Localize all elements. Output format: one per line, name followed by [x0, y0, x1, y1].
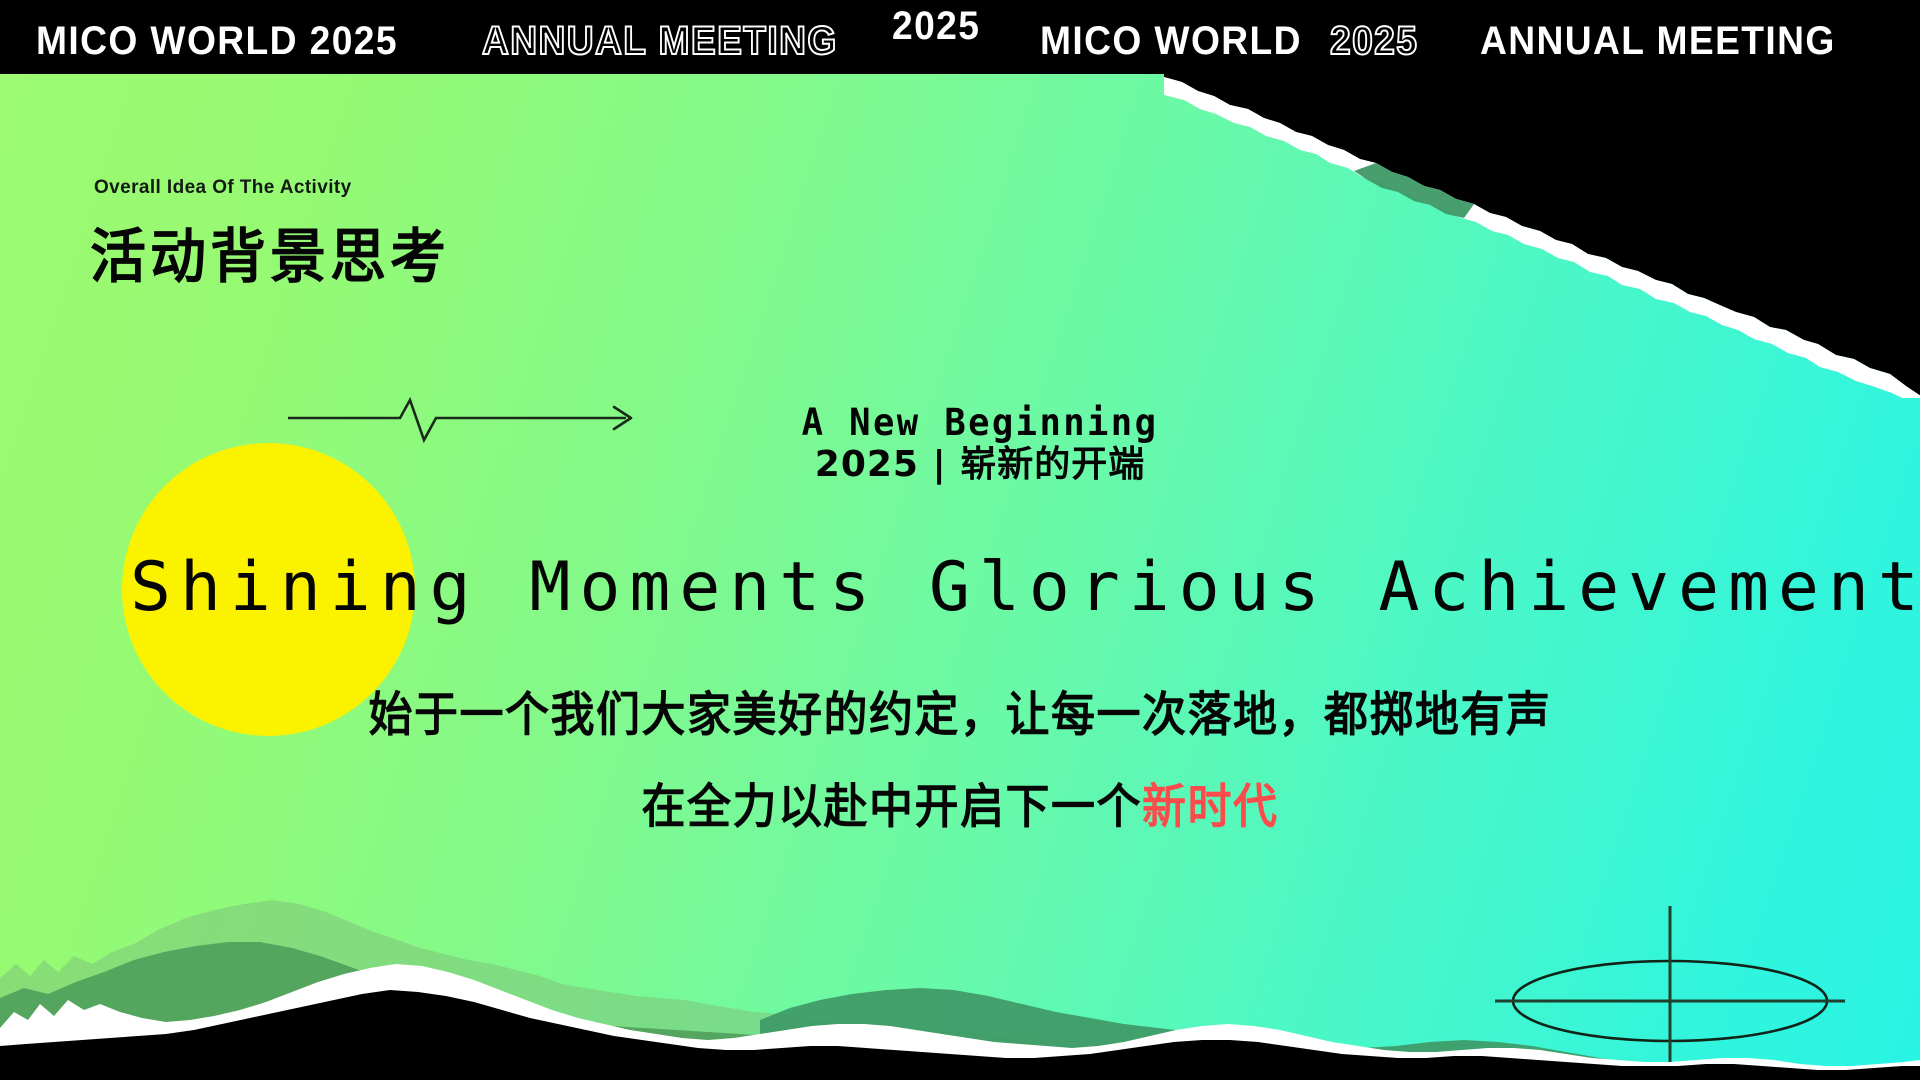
subtitle-line-2-accent: 新时代: [1142, 780, 1279, 835]
new-beginning-chinese: 2025 | 崭新的开端: [770, 443, 1190, 487]
subtitle-line-2: 在全力以赴中开启下一个新时代: [0, 784, 1920, 832]
marquee-item-1: ANNUAL MEETING: [482, 21, 838, 61]
marquee-row: MICO WORLD 2025ANNUAL MEETING2025MICO WO…: [0, 0, 1920, 74]
new-beginning-block: A New Beginning 2025 | 崭新的开端: [770, 404, 1190, 487]
poster-canvas: MICO WORLD 2025ANNUAL MEETING2025MICO WO…: [0, 0, 1920, 1080]
new-beginning-english: A New Beginning: [778, 404, 1181, 443]
main-gradient-panel: Overall Idea Of The Activity 活动背景思考 A Ne…: [0, 74, 1920, 1080]
marquee-item-4: 2025: [1330, 21, 1418, 61]
subtitle-line-2-prefix: 在全力以赴中开启下一个: [642, 780, 1143, 835]
page-title: 活动背景思考: [90, 209, 450, 295]
bottom-scenery-layers: [0, 860, 1920, 1080]
marquee-item-2: 2025: [892, 6, 980, 46]
marquee-item-0: MICO WORLD 2025: [36, 21, 398, 61]
top-marquee-banner: MICO WORLD 2025ANNUAL MEETING2025MICO WO…: [0, 0, 1920, 74]
marquee-item-5: ANNUAL MEETING: [1480, 21, 1836, 61]
main-headline: Shining Moments Glorious Achievementst: [130, 554, 1810, 622]
section-eyebrow: Overall Idea Of The Activity: [94, 177, 352, 199]
zigzag-arrow-icon: [288, 394, 648, 450]
subtitle-line-1: 始于一个我们大家美好的约定，让每一次落地，都掷地有声: [0, 692, 1920, 740]
marquee-item-3: MICO WORLD: [1040, 21, 1302, 61]
